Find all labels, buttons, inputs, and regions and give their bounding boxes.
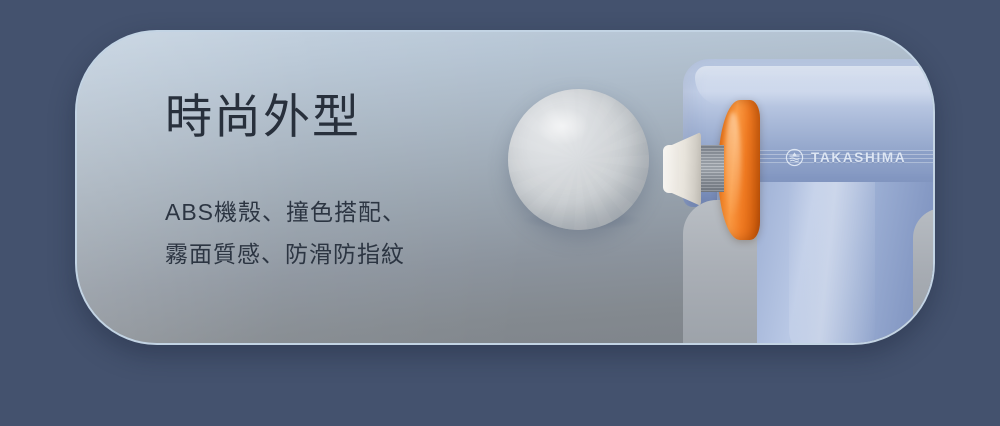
feature-copy: 時尚外型 ABS機殼、撞色搭配、 霧面質感、防滑防指紋 (165, 92, 495, 276)
gun-body-ridge-lines (689, 150, 935, 163)
feature-card: TAKASHIMA 時尚外型 ABS機殼、撞色搭配、 霧面質感、防滑防指紋 (75, 30, 935, 345)
gun-body (683, 59, 935, 207)
feature-subtitle-line-1: ABS機殼、撞色搭配、 (165, 191, 495, 234)
white-cone-flange (671, 132, 701, 206)
takashima-logo: TAKASHIMA (785, 148, 906, 167)
gun-handle (717, 182, 935, 345)
gun-handle-highlight (789, 182, 875, 345)
metal-shaft-texture (694, 145, 724, 192)
metal-shaft (694, 145, 724, 192)
feature-subtitle: ABS機殼、撞色搭配、 霧面質感、防滑防指紋 (165, 191, 495, 276)
page-background: TAKASHIMA 時尚外型 ABS機殼、撞色搭配、 霧面質感、防滑防指紋 (0, 0, 1000, 426)
gun-handle-left-gap (683, 200, 757, 345)
takashima-circle-wave-emblem-icon (785, 148, 804, 167)
orange-collar-highlight (725, 112, 741, 216)
ball-head-shadow (523, 210, 641, 230)
ball-head-texture (508, 89, 649, 230)
feature-title: 時尚外型 (165, 92, 495, 143)
takashima-logo-text: TAKASHIMA (811, 150, 906, 165)
feature-subtitle-line-2: 霧面質感、防滑防指紋 (165, 233, 495, 276)
gun-handle-right-gap (913, 208, 935, 345)
ball-massage-head (508, 89, 649, 230)
ball-head-highlight (537, 107, 589, 145)
orange-collar (718, 100, 760, 240)
gun-body-highlight (695, 66, 935, 106)
white-cone-cap (663, 145, 679, 193)
